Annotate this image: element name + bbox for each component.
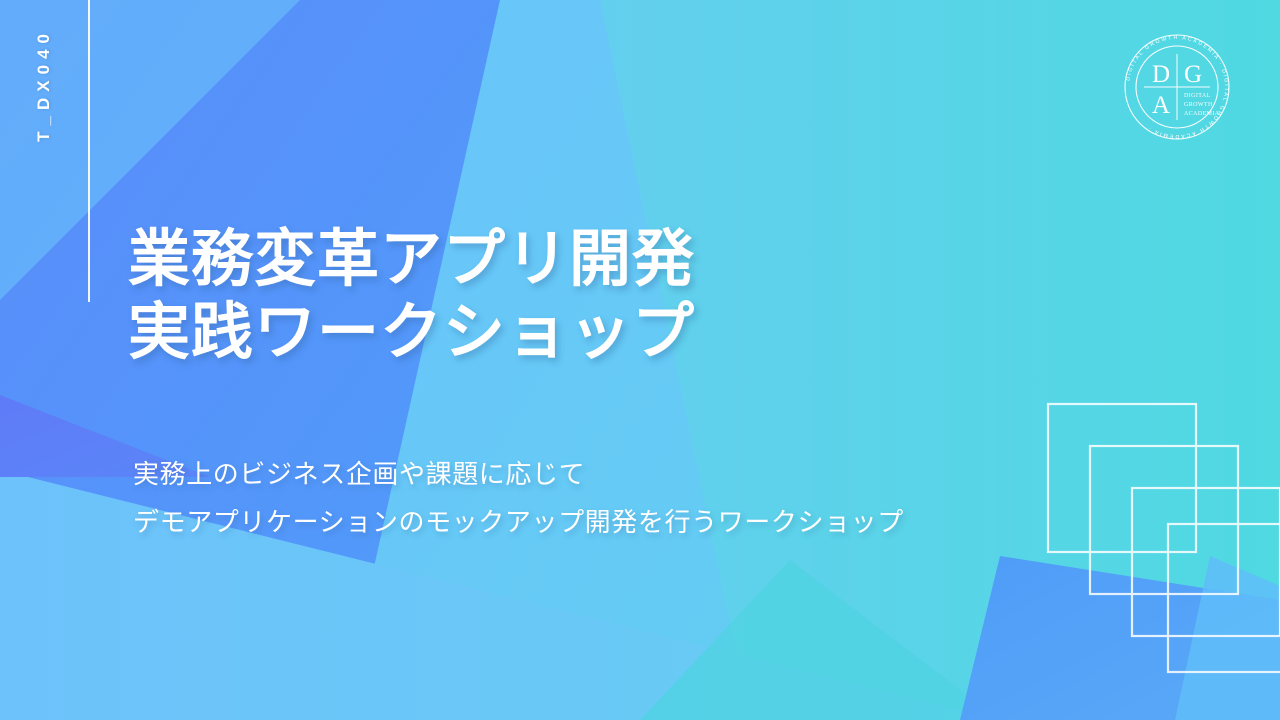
logo-letter-a: A bbox=[1152, 92, 1170, 119]
page-subtitle-line-1: 実務上のビジネス企画や課題に応じて bbox=[133, 450, 904, 498]
page-subtitle-line-2: デモアプリケーションのモックアップ開発を行うワークショップ bbox=[133, 498, 904, 546]
logo-letter-d: D bbox=[1152, 61, 1170, 88]
page-title-line-1: 業務変革アプリ開発 bbox=[128, 224, 695, 297]
logo-stacked-growth: GROWTH bbox=[1184, 102, 1213, 108]
presentation-slide: T_DX040 DIGITAL GROWTH ACADEMIA · DIGITA… bbox=[0, 0, 1280, 720]
page-subtitle: 実務上のビジネス企画や課題に応じて デモアプリケーションのモックアップ開発を行う… bbox=[133, 450, 904, 546]
logo-stacked-digital: DIGITAL bbox=[1184, 93, 1211, 99]
dga-logo-mark: DIGITAL GROWTH ACADEMIA · DIGITAL GROWTH… bbox=[1118, 28, 1236, 146]
page-title-line-2: 実践ワークショップ bbox=[128, 297, 695, 370]
vertical-divider bbox=[88, 0, 90, 302]
logo-stacked-academia: ACADEMIA bbox=[1184, 111, 1220, 117]
dga-logo: DIGITAL GROWTH ACADEMIA · DIGITAL GROWTH… bbox=[1118, 28, 1236, 146]
slide-code-text: T_DX040 bbox=[34, 28, 54, 142]
slide-code-label: T_DX040 bbox=[22, 28, 66, 258]
logo-letter-g: G bbox=[1184, 61, 1202, 88]
page-title: 業務変革アプリ開発 実践ワークショップ bbox=[128, 224, 695, 369]
